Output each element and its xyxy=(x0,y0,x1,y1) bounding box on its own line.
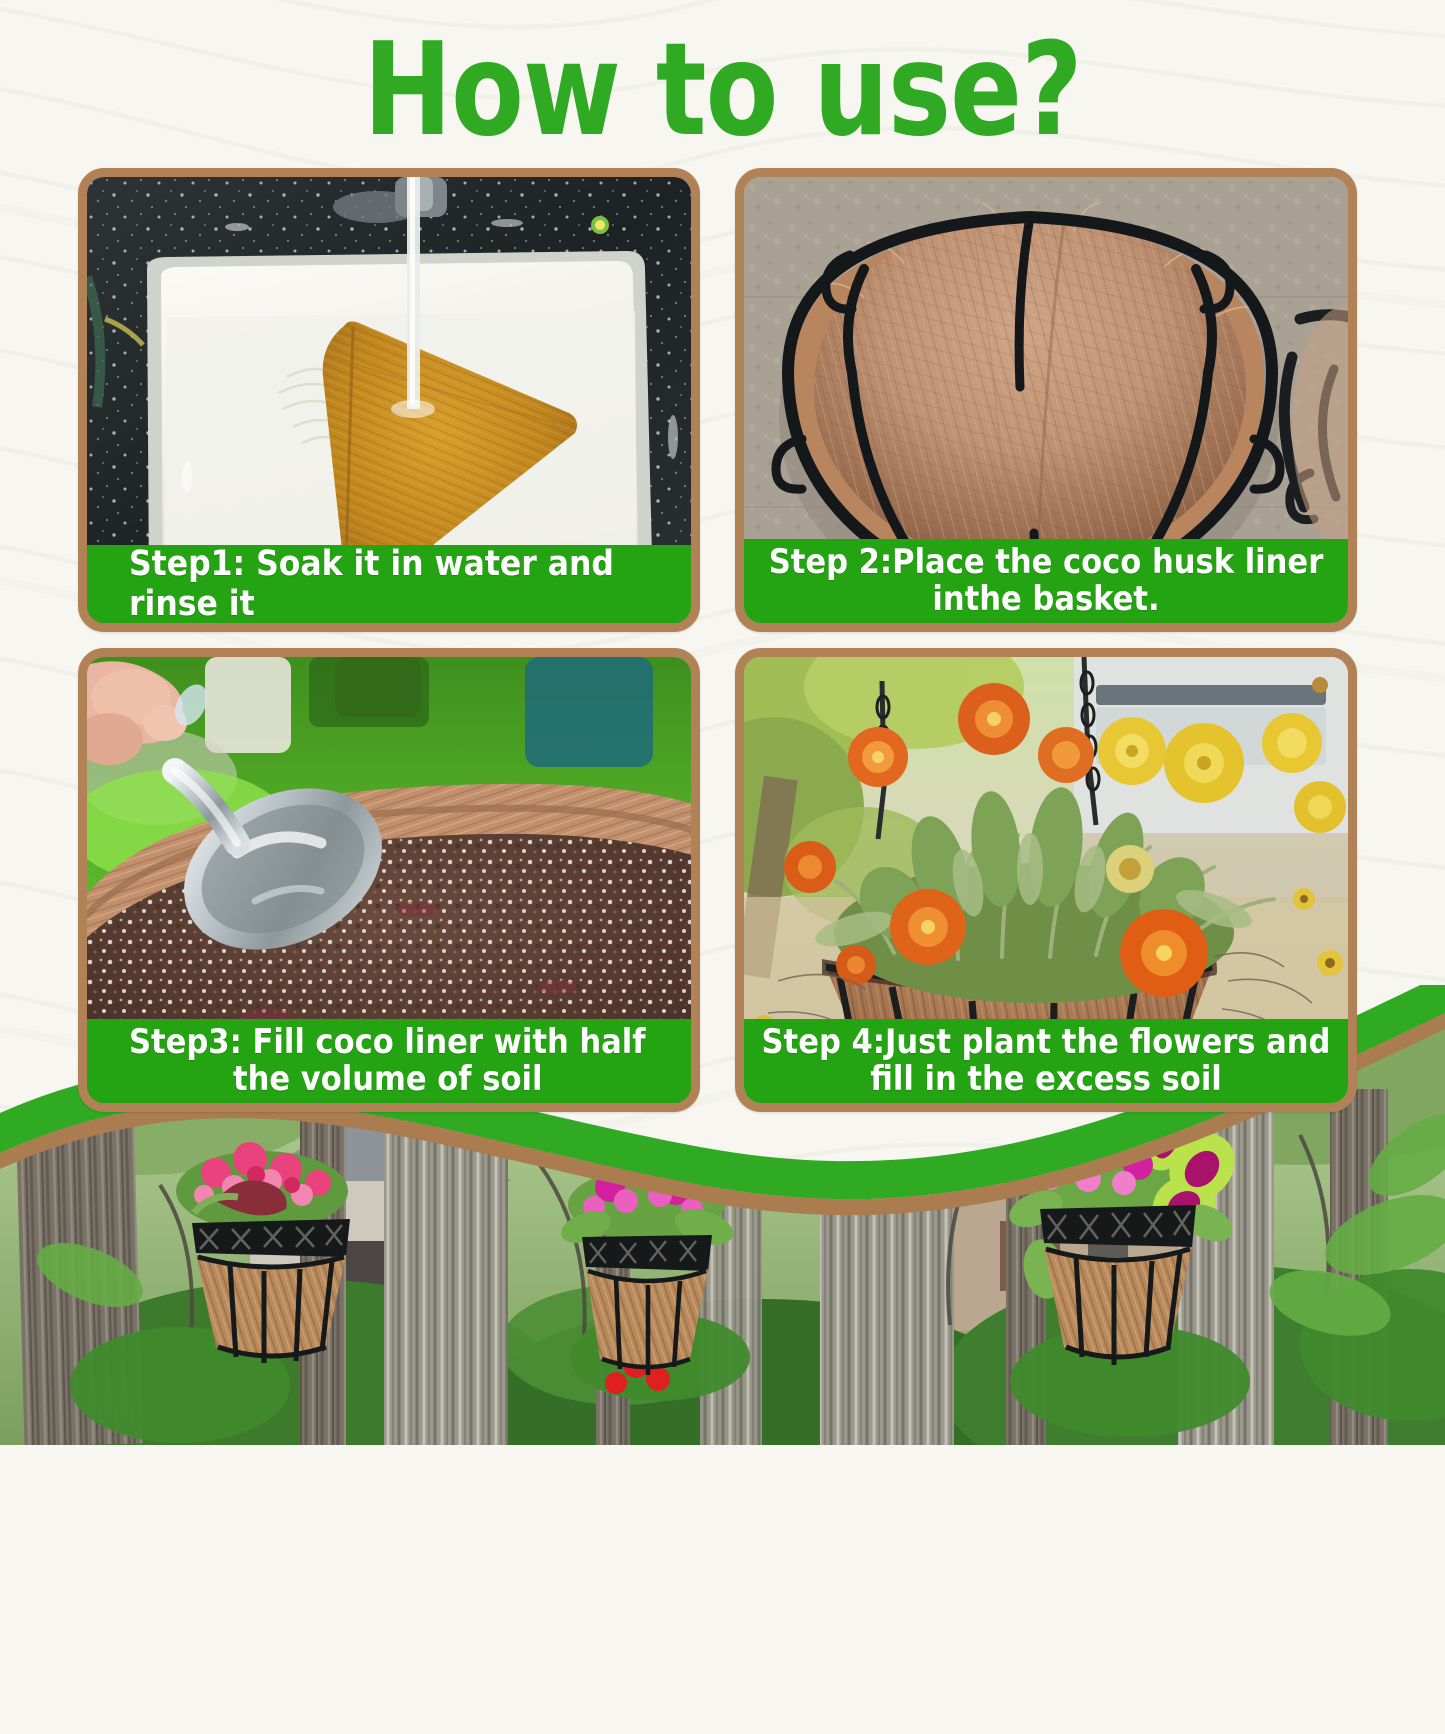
step-card-1: Step1: Soak it in water and rinse it xyxy=(78,168,700,632)
step-1-caption-line-1: Step1: Soak it in water and rinse it xyxy=(129,544,691,624)
page-title: How to use? xyxy=(58,26,1387,157)
step-4-caption-line-2: fill in the excess soil xyxy=(762,1061,1331,1098)
step-card-4: Step 4:Just plant the flowers and fill i… xyxy=(735,648,1357,1112)
page-title-wrap: How to use? xyxy=(0,26,1445,157)
step-2-caption-line-2: inthe basket. xyxy=(769,581,1324,618)
step-4-caption: Step 4:Just plant the flowers and fill i… xyxy=(744,1019,1348,1103)
step-4-caption-line-1: Step 4:Just plant the flowers and xyxy=(762,1022,1331,1062)
step-3-caption-line-2: the volume of soil xyxy=(129,1061,646,1098)
step-3-caption: Step3: Fill coco liner with half the vol… xyxy=(87,1019,691,1103)
step-2-caption-line-1: Step 2:Place the coco husk liner xyxy=(769,542,1324,582)
step-card-2: Step 2:Place the coco husk liner inthe b… xyxy=(735,168,1357,632)
step-1-caption: Step1: Soak it in water and rinse it xyxy=(87,545,691,623)
step-3-caption-line-1: Step3: Fill coco liner with half xyxy=(129,1022,646,1062)
step-card-3: Step3: Fill coco liner with half the vol… xyxy=(78,648,700,1112)
step-2-caption: Step 2:Place the coco husk liner inthe b… xyxy=(744,539,1348,623)
